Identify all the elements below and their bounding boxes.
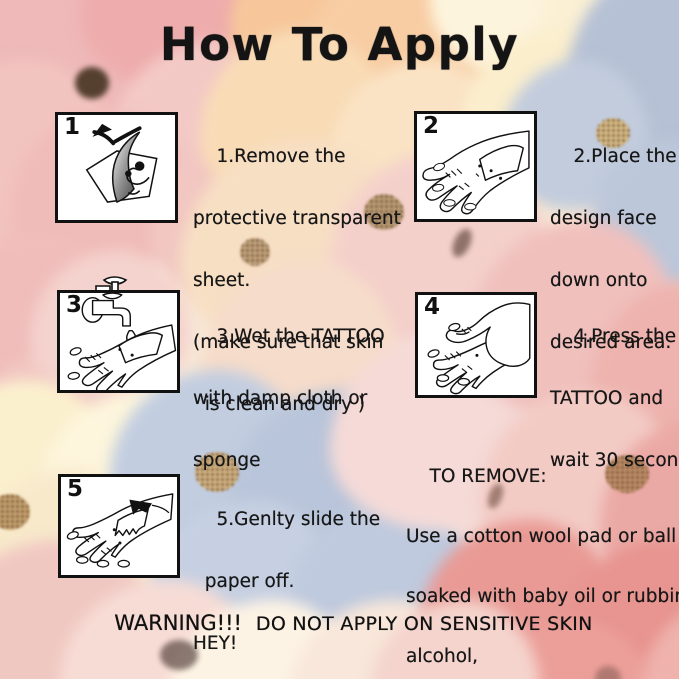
step-3-illustration: 3	[57, 290, 180, 393]
step-2-number: 2	[423, 115, 439, 138]
warning-message: DO NOT APPLY ON SENSITIVE SKIN	[256, 613, 593, 635]
warning-label: WARNING!!!	[114, 611, 242, 635]
step-2-illustration: 2	[414, 111, 537, 222]
to-remove-heading: TO REMOVE:	[430, 466, 547, 487]
step-1-number: 1	[64, 116, 80, 139]
step-5-illustration: 5	[58, 474, 180, 578]
step-4-illustration: 4	[415, 292, 537, 398]
page-title: How To Apply	[0, 18, 679, 71]
step-3-number: 3	[66, 294, 82, 317]
warning-banner: WARNING!!! DO NOT APPLY ON SENSITIVE SKI…	[0, 587, 679, 659]
instruction-card: How To Apply 1	[0, 0, 679, 679]
step-1-illustration: 1	[55, 112, 178, 223]
step-5-number: 5	[67, 478, 83, 501]
step-4-number: 4	[424, 296, 440, 319]
